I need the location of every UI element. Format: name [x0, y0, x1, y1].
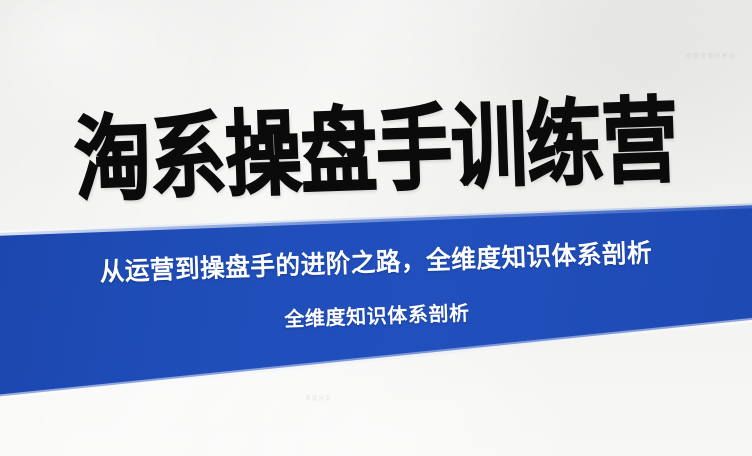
course-poster: 网络资源分享站 淘系操盘手训练营 从运营到操盘手的进阶之路，全维度知识体系剖析 … [0, 0, 752, 456]
watermark-bottom-center: 资源分享 [305, 394, 332, 402]
poster-headline: 淘系操盘手训练营 [73, 96, 678, 209]
headline-container: 淘系操盘手训练营 [0, 84, 752, 221]
blue-banner-shape [0, 0, 752, 456]
watermark-top-right: 网络资源分享站 [686, 51, 736, 60]
